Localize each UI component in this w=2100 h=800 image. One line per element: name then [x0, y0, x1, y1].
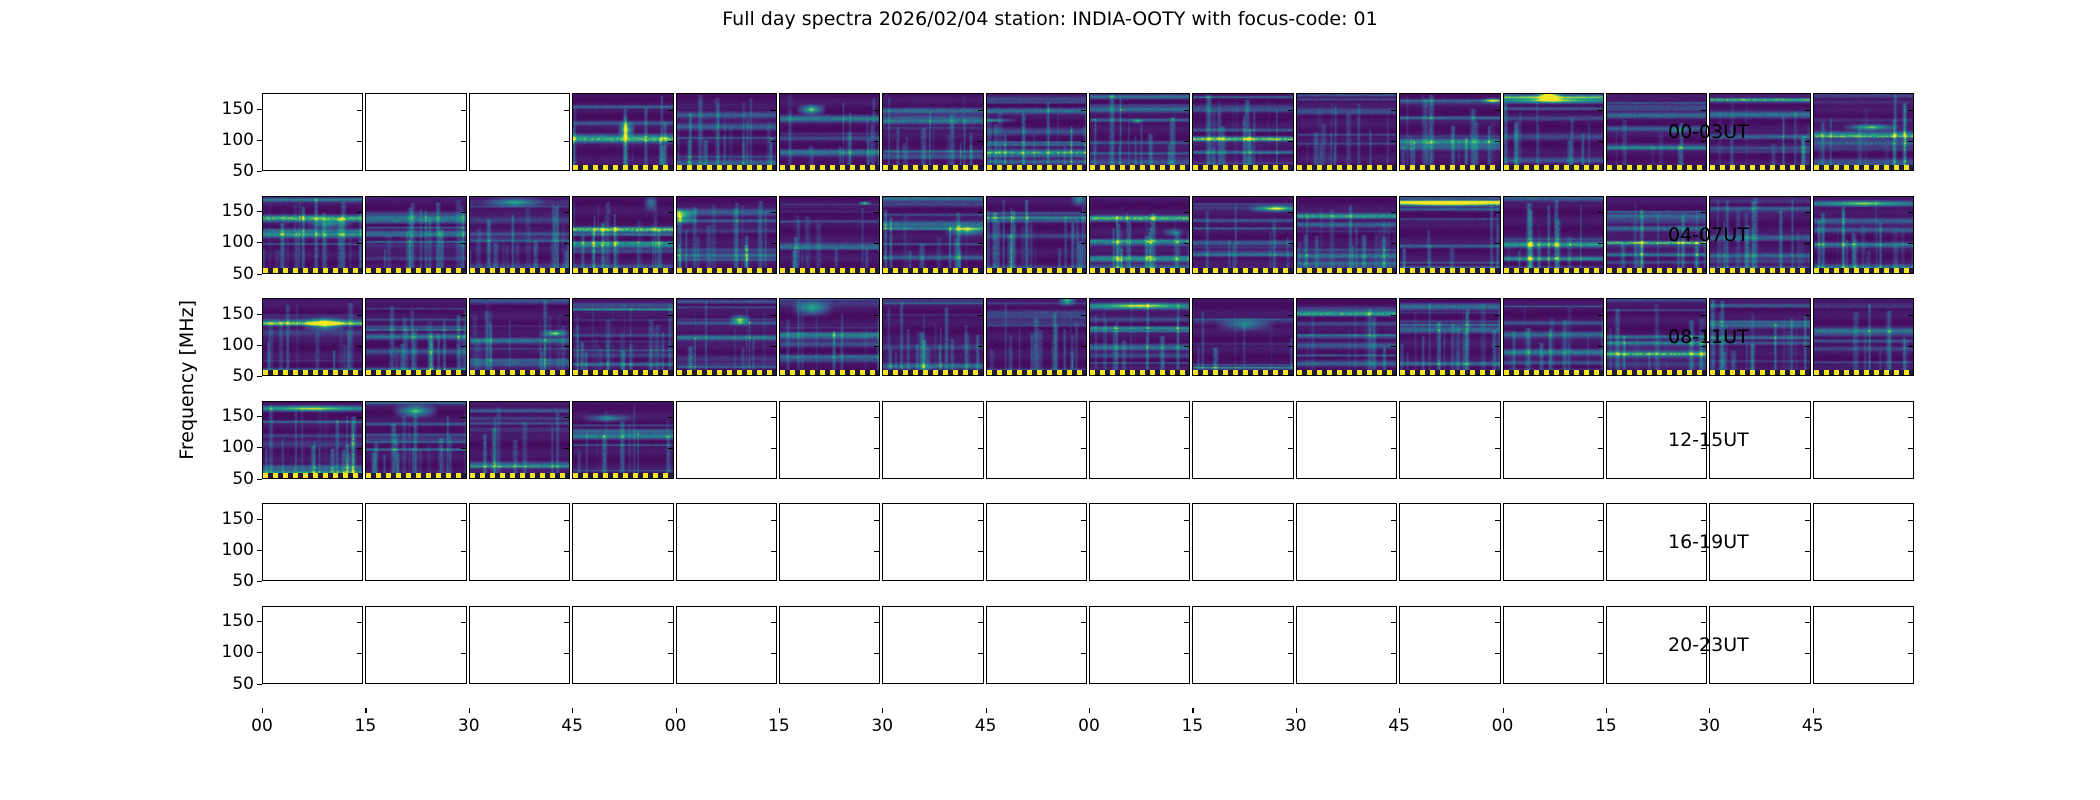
spectrogram-panel[interactable] — [1503, 401, 1604, 479]
spectrogram-panel[interactable] — [1813, 503, 1914, 581]
spectrogram-panel[interactable] — [1399, 401, 1500, 479]
y-tick-mark — [357, 520, 362, 521]
y-tick-mark — [668, 243, 673, 244]
x-tick-label: 45 — [561, 716, 583, 736]
spectrogram-image — [1400, 197, 1499, 273]
spectrogram-panel[interactable] — [1089, 93, 1190, 171]
x-tick-label: 30 — [871, 716, 893, 736]
spectrogram-panel[interactable] — [1192, 401, 1293, 479]
flag-strip — [1607, 268, 1706, 273]
y-tick-mark — [1184, 551, 1189, 552]
y-tick-mark — [461, 315, 466, 316]
y-tick-label: 50 — [232, 571, 254, 591]
spectrogram-panel[interactable] — [572, 606, 673, 684]
spectrogram-panel[interactable] — [469, 93, 570, 171]
y-tick-label: 100 — [222, 540, 254, 560]
y-tick-label-group: 50100150 — [196, 93, 254, 171]
spectrogram-panel[interactable] — [986, 606, 1087, 684]
flag-strip — [263, 370, 362, 375]
y-tick-mark — [874, 141, 879, 142]
spectrogram-panel[interactable] — [469, 401, 570, 479]
spectrogram-image — [366, 299, 465, 375]
x-tick-label: 15 — [355, 716, 377, 736]
spectrogram-image — [1090, 197, 1189, 273]
y-tick-mark — [564, 110, 569, 111]
flag-strip — [1400, 268, 1499, 273]
spectrogram-panel[interactable] — [882, 401, 983, 479]
spectrogram-panel[interactable] — [1089, 606, 1190, 684]
spectrogram-panel[interactable] — [882, 298, 983, 376]
y-tick-label-group: 50100150 — [196, 298, 254, 376]
y-tick-mark — [1391, 653, 1396, 654]
x-tick-label: 30 — [1698, 716, 1720, 736]
spectrogram-image — [366, 402, 465, 478]
spectrogram-panel[interactable] — [572, 401, 673, 479]
spectrogram-image — [1814, 94, 1913, 170]
y-tick-label-group: 50100150 — [196, 196, 254, 274]
y-tick-mark — [1805, 243, 1810, 244]
y-tick-mark — [668, 212, 673, 213]
y-tick-mark — [1908, 110, 1913, 111]
spectrogram-panel[interactable] — [1813, 298, 1914, 376]
row-label-20-23ut: 20-23UT — [1668, 634, 1749, 656]
flag-strip — [677, 268, 776, 273]
y-tick-mark — [1184, 212, 1189, 213]
row-label-08-11ut: 08-11UT — [1668, 326, 1749, 348]
spectrogram-panel[interactable] — [262, 93, 363, 171]
spectrogram-panel[interactable] — [1399, 196, 1500, 274]
spectrogram-panel[interactable] — [262, 606, 363, 684]
x-tick-mark — [986, 708, 987, 713]
spectrogram-panel[interactable] — [986, 401, 1087, 479]
y-tick-mark — [1495, 243, 1500, 244]
x-tick-label: 15 — [768, 716, 790, 736]
spectrogram-panel[interactable] — [779, 606, 880, 684]
y-tick-mark — [1288, 448, 1293, 449]
x-tick-mark — [1399, 708, 1400, 713]
y-tick-mark — [1391, 551, 1396, 552]
spectrogram-panel[interactable] — [676, 401, 777, 479]
spectrogram-panel[interactable] — [676, 196, 777, 274]
y-tick-mark — [357, 243, 362, 244]
flag-strip — [1607, 370, 1706, 375]
spectrogram-image — [470, 299, 569, 375]
spectrogram-panel[interactable] — [779, 196, 880, 274]
y-tick-mark — [1495, 315, 1500, 316]
y-tick-label: 50 — [232, 674, 254, 694]
x-tick-label: 00 — [665, 716, 687, 736]
y-tick-mark — [1908, 520, 1913, 521]
y-tick-mark — [1184, 141, 1189, 142]
y-tick-mark — [1908, 141, 1913, 142]
y-tick-mark — [1081, 520, 1086, 521]
flag-strip — [1607, 165, 1706, 170]
y-tick-mark — [978, 346, 983, 347]
y-tick-mark — [1908, 653, 1913, 654]
spectrogram-panel[interactable] — [676, 298, 777, 376]
y-tick-mark — [1701, 110, 1706, 111]
spectrogram-panel[interactable] — [469, 503, 570, 581]
x-tick-mark — [676, 708, 677, 713]
spectrogram-image — [1400, 94, 1499, 170]
y-tick-mark — [1184, 417, 1189, 418]
y-tick-mark — [1184, 346, 1189, 347]
spectrogram-panel[interactable] — [469, 298, 570, 376]
spectrogram-panel[interactable] — [1192, 503, 1293, 581]
y-tick-mark — [1495, 520, 1500, 521]
x-axis: 00153045001530450015304500153045 — [0, 708, 2100, 748]
y-tick-mark — [978, 622, 983, 623]
y-tick-mark — [874, 315, 879, 316]
y-tick-mark — [978, 315, 983, 316]
y-tick-mark — [1391, 417, 1396, 418]
spectrogram-panel[interactable] — [365, 503, 466, 581]
flag-strip — [573, 370, 672, 375]
y-tick-label: 150 — [222, 406, 254, 426]
spectrogram-image — [1297, 94, 1396, 170]
y-tick-mark — [257, 109, 262, 110]
x-tick-label: 00 — [251, 716, 273, 736]
y-tick-mark — [771, 141, 776, 142]
y-tick-mark — [1288, 551, 1293, 552]
flag-strip — [1710, 165, 1809, 170]
y-tick-mark — [357, 141, 362, 142]
y-tick-mark — [1495, 212, 1500, 213]
y-tick-mark — [564, 315, 569, 316]
spectrogram-image — [677, 299, 776, 375]
spectrogram-panel[interactable] — [1503, 93, 1604, 171]
spectrogram-panel[interactable] — [986, 93, 1087, 171]
spectrogram-panel[interactable] — [1296, 298, 1397, 376]
y-tick-mark — [1288, 141, 1293, 142]
y-tick-mark — [461, 622, 466, 623]
y-tick-mark — [1391, 315, 1396, 316]
spectrogram-panel[interactable] — [779, 401, 880, 479]
y-tick-mark — [1598, 653, 1603, 654]
y-tick-mark — [874, 653, 879, 654]
y-tick-mark — [564, 448, 569, 449]
flag-strip — [573, 165, 672, 170]
spectrogram-panel[interactable] — [986, 298, 1087, 376]
y-tick-mark — [1805, 551, 1810, 552]
plot-row-00-03ut — [262, 93, 1914, 171]
y-tick-mark — [874, 417, 879, 418]
y-tick-mark — [257, 314, 262, 315]
spectrogram-panel[interactable] — [1503, 196, 1604, 274]
spectrogram-panel[interactable] — [1296, 606, 1397, 684]
y-tick-mark — [1598, 110, 1603, 111]
spectrogram-image — [1090, 299, 1189, 375]
y-tick-mark — [1081, 243, 1086, 244]
y-tick-mark — [1081, 551, 1086, 552]
y-tick-mark — [257, 140, 262, 141]
x-tick-mark — [469, 708, 470, 713]
spectrogram-panel[interactable] — [1192, 93, 1293, 171]
spectrogram-panel[interactable] — [365, 196, 466, 274]
spectrogram-panel[interactable] — [365, 606, 466, 684]
y-tick-mark — [1805, 448, 1810, 449]
spectrogram-image — [263, 402, 362, 478]
y-tick-mark — [257, 652, 262, 653]
flag-strip — [1297, 165, 1396, 170]
x-tick-mark — [1503, 708, 1504, 713]
flag-strip — [1710, 268, 1809, 273]
spectrogram-panel[interactable] — [779, 503, 880, 581]
spectrogram-panel[interactable] — [262, 401, 363, 479]
y-tick-mark — [1805, 110, 1810, 111]
x-tick-mark — [1709, 708, 1710, 713]
spectrogram-image — [573, 299, 672, 375]
y-tick-mark — [1908, 243, 1913, 244]
plot-row-04-07ut — [262, 196, 1914, 274]
spectrogram-image — [677, 197, 776, 273]
y-tick-mark — [1495, 141, 1500, 142]
spectrogram-image — [1504, 299, 1603, 375]
y-tick-mark — [1598, 243, 1603, 244]
spectrogram-panel[interactable] — [365, 401, 466, 479]
y-tick-mark — [1701, 622, 1706, 623]
y-tick-mark — [564, 520, 569, 521]
spectrogram-image — [1193, 299, 1292, 375]
spectrogram-panel[interactable] — [1192, 298, 1293, 376]
y-tick-mark — [1081, 315, 1086, 316]
y-tick-mark — [1805, 141, 1810, 142]
y-tick-mark — [874, 622, 879, 623]
x-tick-label: 45 — [1802, 716, 1824, 736]
y-tick-mark — [257, 416, 262, 417]
spectrogram-panel[interactable] — [1089, 401, 1190, 479]
spectrogram-panel[interactable] — [1399, 298, 1500, 376]
y-tick-mark — [1391, 346, 1396, 347]
plot-row-12-15ut — [262, 401, 1914, 479]
flag-strip — [470, 370, 569, 375]
y-tick-mark — [771, 520, 776, 521]
spectrogram-image — [780, 299, 879, 375]
y-tick-mark — [257, 171, 262, 172]
y-tick-mark — [1805, 622, 1810, 623]
spectrogram-image — [677, 94, 776, 170]
spectrogram-panel[interactable] — [262, 503, 363, 581]
y-tick-mark — [978, 551, 983, 552]
y-tick-label-group: 50100150 — [196, 503, 254, 581]
spectrogram-panel[interactable] — [986, 503, 1087, 581]
spectrogram-panel[interactable] — [676, 93, 777, 171]
spectrogram-panel[interactable] — [1503, 298, 1604, 376]
spectrogram-panel[interactable] — [676, 503, 777, 581]
y-tick-label: 100 — [222, 335, 254, 355]
y-tick-mark — [357, 212, 362, 213]
y-tick-mark — [668, 315, 673, 316]
spectrogram-panel[interactable] — [1503, 606, 1604, 684]
spectrogram-image — [573, 402, 672, 478]
y-tick-mark — [461, 417, 466, 418]
x-tick-mark — [1813, 708, 1814, 713]
spectrogram-panel[interactable] — [1813, 606, 1914, 684]
y-tick-mark — [1288, 243, 1293, 244]
plot-row-20-23ut — [262, 606, 1914, 684]
y-tick-mark — [357, 551, 362, 552]
flag-strip — [1090, 370, 1189, 375]
spectrogram-panel[interactable] — [1813, 93, 1914, 171]
spectrogram-image — [1400, 299, 1499, 375]
spectrogram-panel[interactable] — [1503, 503, 1604, 581]
y-tick-mark — [771, 551, 776, 552]
flag-strip — [987, 268, 1086, 273]
y-tick-mark — [668, 653, 673, 654]
y-tick-mark — [771, 243, 776, 244]
y-tick-mark — [1288, 622, 1293, 623]
spectrogram-panel[interactable] — [882, 503, 983, 581]
spectrogram-panel[interactable] — [1399, 606, 1500, 684]
spectrogram-image — [573, 197, 672, 273]
y-tick-mark — [1598, 212, 1603, 213]
y-tick-mark — [978, 110, 983, 111]
spectrogram-panel[interactable] — [1296, 401, 1397, 479]
y-tick-mark — [668, 448, 673, 449]
spectrogram-image — [987, 299, 1086, 375]
y-tick-label: 100 — [222, 437, 254, 457]
y-tick-mark — [357, 346, 362, 347]
row-label-04-07ut: 04-07UT — [1668, 224, 1749, 246]
flag-strip — [780, 370, 879, 375]
spectrogram-image — [780, 94, 879, 170]
flag-strip — [263, 268, 362, 273]
y-tick-mark — [257, 621, 262, 622]
y-tick-mark — [1391, 212, 1396, 213]
y-tick-mark — [564, 141, 569, 142]
y-tick-mark — [1805, 346, 1810, 347]
y-tick-mark — [1805, 315, 1810, 316]
spectrogram-panel[interactable] — [1192, 196, 1293, 274]
x-tick-mark — [572, 708, 573, 713]
x-tick-mark — [1089, 708, 1090, 713]
spectrogram-panel[interactable] — [469, 606, 570, 684]
spectrogram-panel[interactable] — [262, 298, 363, 376]
y-tick-label: 150 — [222, 201, 254, 221]
spectrogram-image — [470, 197, 569, 273]
spectrogram-panel[interactable] — [676, 606, 777, 684]
flag-strip — [677, 370, 776, 375]
spectrogram-panel[interactable] — [1192, 606, 1293, 684]
y-tick-mark — [357, 315, 362, 316]
flag-strip — [470, 473, 569, 478]
flag-strip — [573, 268, 672, 273]
y-tick-mark — [257, 550, 262, 551]
y-tick-mark — [1701, 417, 1706, 418]
y-tick-mark — [564, 551, 569, 552]
y-tick-mark — [461, 141, 466, 142]
spectrogram-panel[interactable] — [1089, 503, 1190, 581]
spectrogram-panel[interactable] — [572, 503, 673, 581]
y-tick-mark — [257, 479, 262, 480]
spectrogram-panel[interactable] — [779, 93, 880, 171]
spectrogram-panel[interactable] — [1296, 196, 1397, 274]
spectrogram-panel[interactable] — [986, 196, 1087, 274]
spectrogram-panel[interactable] — [469, 196, 570, 274]
x-tick-label: 30 — [1285, 716, 1307, 736]
spectrogram-panel[interactable] — [1399, 503, 1500, 581]
flag-strip — [573, 473, 672, 478]
spectrogram-panel[interactable] — [262, 196, 363, 274]
y-tick-mark — [564, 417, 569, 418]
flag-strip — [1297, 268, 1396, 273]
spectrogram-panel[interactable] — [882, 606, 983, 684]
y-tick-mark — [771, 448, 776, 449]
y-tick-mark — [978, 417, 983, 418]
spectrogram-panel[interactable] — [572, 196, 673, 274]
y-tick-mark — [668, 520, 673, 521]
y-tick-mark — [564, 622, 569, 623]
spectrogram-panel[interactable] — [1813, 196, 1914, 274]
flag-strip — [1504, 165, 1603, 170]
y-tick-mark — [978, 243, 983, 244]
spectrogram-panel[interactable] — [779, 298, 880, 376]
x-tick-label: 45 — [1388, 716, 1410, 736]
y-tick-mark — [1184, 520, 1189, 521]
y-tick-label: 50 — [232, 366, 254, 386]
spectrogram-panel[interactable] — [365, 93, 466, 171]
y-tick-mark — [874, 110, 879, 111]
spectrogram-panel[interactable] — [572, 298, 673, 376]
spectrogram-panel[interactable] — [882, 93, 983, 171]
y-tick-mark — [874, 448, 879, 449]
flag-strip — [366, 473, 465, 478]
spectrogram-panel[interactable] — [572, 93, 673, 171]
y-tick-label: 150 — [222, 99, 254, 119]
flag-strip — [366, 268, 465, 273]
y-tick-mark — [1184, 315, 1189, 316]
spectrogram-figure: Full day spectra 2026/02/04 station: IND… — [0, 0, 2100, 800]
y-tick-mark — [257, 447, 262, 448]
flag-strip — [883, 165, 982, 170]
flag-strip — [470, 268, 569, 273]
x-tick-mark — [1296, 708, 1297, 713]
y-tick-mark — [357, 653, 362, 654]
y-tick-mark — [1288, 212, 1293, 213]
y-tick-mark — [978, 212, 983, 213]
x-tick-label: 00 — [1492, 716, 1514, 736]
y-tick-mark — [1495, 417, 1500, 418]
spectrogram-panel[interactable] — [1089, 298, 1190, 376]
plot-row-16-19ut — [262, 503, 1914, 581]
y-tick-mark — [1184, 110, 1189, 111]
y-tick-mark — [1598, 622, 1603, 623]
flag-strip — [1090, 165, 1189, 170]
y-tick-mark — [1081, 448, 1086, 449]
x-tick-mark — [882, 708, 883, 713]
y-tick-mark — [1598, 346, 1603, 347]
y-tick-mark — [461, 551, 466, 552]
y-tick-mark — [668, 141, 673, 142]
y-tick-mark — [1908, 551, 1913, 552]
y-tick-mark — [1908, 448, 1913, 449]
y-tick-mark — [461, 243, 466, 244]
y-tick-mark — [1391, 622, 1396, 623]
spectrogram-panel[interactable] — [1296, 93, 1397, 171]
spectrogram-panel[interactable] — [882, 196, 983, 274]
y-tick-mark — [1908, 212, 1913, 213]
spectrogram-panel[interactable] — [1296, 503, 1397, 581]
spectrogram-panel[interactable] — [1089, 196, 1190, 274]
y-tick-label: 50 — [232, 161, 254, 181]
spectrogram-panel[interactable] — [1813, 401, 1914, 479]
spectrogram-panel[interactable] — [365, 298, 466, 376]
flag-strip — [1814, 268, 1913, 273]
y-tick-mark — [1081, 653, 1086, 654]
spectrogram-panel[interactable] — [1399, 93, 1500, 171]
row-label-12-15ut: 12-15UT — [1668, 429, 1749, 451]
y-tick-mark — [668, 346, 673, 347]
